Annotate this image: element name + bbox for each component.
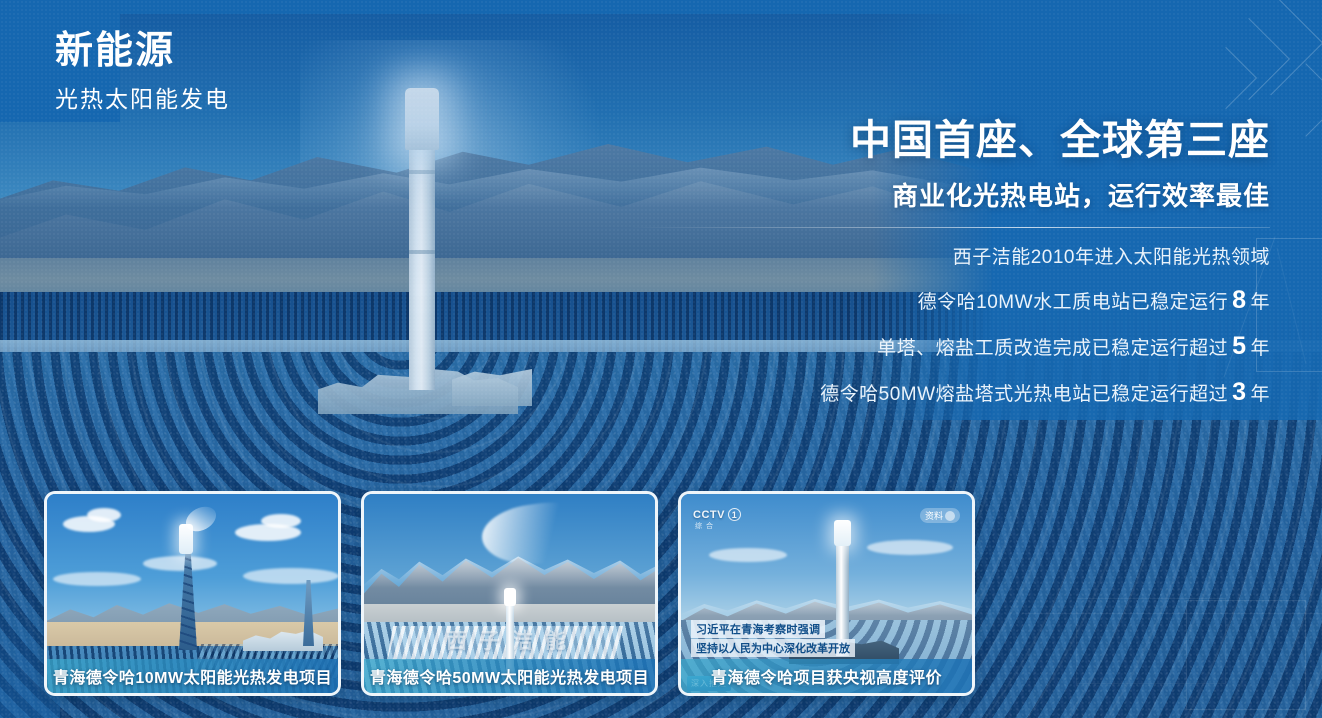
page-title: 新能源 光热太阳能发电 <box>55 30 230 114</box>
hero-bullet-item: 德令哈10MW水工质电站已稳定运行8年 <box>630 286 1270 315</box>
hero-bullet-number: 5 <box>1228 332 1250 360</box>
hero-bullet-number: 3 <box>1228 378 1250 406</box>
thumb1-cloud <box>53 572 141 586</box>
hero-bullet-prefix: 德令哈10MW水工质电站已稳定运行 <box>918 292 1228 313</box>
hero-bullet-item: 德令哈50MW熔盐塔式光热电站已稳定运行超过3年 <box>630 378 1270 407</box>
page-title-main: 新能源 <box>55 30 230 74</box>
hero-bullet-unit: 年 <box>1250 292 1270 313</box>
hero-bullet-number: 8 <box>1228 286 1250 314</box>
thumbnail-card-delingha-50mw[interactable]: 西子洁能 青海德令哈50MW太阳能光热发电项目 <box>361 491 658 696</box>
deco-hairline-bottom <box>1022 613 1322 614</box>
thumbnail-caption: 青海德令哈50MW太阳能光热发电项目 <box>364 659 655 693</box>
hero-bullet-text: 西子洁能2010年进入太阳能光热领域 <box>953 247 1270 268</box>
thumb1-cloud <box>87 508 121 522</box>
cctv-logo-text: CCTV <box>693 509 725 521</box>
deco-corner-box-bottom-right-2 <box>1076 598 1226 684</box>
project-thumbnail-gallery: 青海德令哈10MW太阳能光热发电项目 西子洁能 青海德令哈50MW太阳能光热发电… <box>44 491 975 696</box>
thumbnail-card-delingha-10mw[interactable]: 青海德令哈10MW太阳能光热发电项目 <box>44 491 341 696</box>
thumbnail-caption: 青海德令哈项目获央视高度评价 <box>681 659 972 693</box>
news-lower-third: 习近平在青海考察时强调 坚持以人民为中心深化改革开放 <box>691 620 942 657</box>
thumb3-tower-receiver <box>834 520 851 546</box>
hero-bullet-list: 西子洁能2010年进入太阳能光热领域 德令哈10MW水工质电站已稳定运行8年 单… <box>630 242 1270 407</box>
hero-bullet-item: 单塔、熔盐工质改造完成已稳定运行超过5年 <box>630 332 1270 361</box>
archive-badge-icon <box>945 511 955 521</box>
hero-text-block: 中国首座、全球第三座 商业化光热电站，运行效率最佳 西子洁能2010年进入太阳能… <box>630 118 1270 407</box>
hero-divider <box>630 227 1270 228</box>
hero-subheadline: 商业化光热电站，运行效率最佳 <box>630 176 1270 213</box>
hero-bullet-unit: 年 <box>1250 384 1270 405</box>
archive-badge: 资料 <box>920 508 960 523</box>
slide-canvas: 新能源 光热太阳能发电 中国首座、全球第三座 商业化光热电站，运行效率最佳 西子… <box>0 0 1322 718</box>
news-headline-line2: 坚持以人民为中心深化改革开放 <box>691 639 855 657</box>
cctv-logo-icon: CCTV 1 <box>693 508 741 521</box>
hero-headline: 中国首座、全球第三座 <box>630 118 1270 164</box>
page-title-sub: 光热太阳能发电 <box>55 80 230 114</box>
hero-bullet-unit: 年 <box>1250 338 1270 359</box>
hero-bullet-item: 西子洁能2010年进入太阳能光热领域 <box>630 242 1270 269</box>
thumb1-cloud <box>261 514 301 528</box>
cctv-channel-number: 1 <box>728 508 741 521</box>
thumb1-cloud <box>143 556 217 571</box>
archive-badge-label: 资料 <box>925 509 943 522</box>
news-headline-line1: 习近平在青海考察时强调 <box>691 620 825 638</box>
thumbnail-caption: 青海德令哈10MW太阳能光热发电项目 <box>47 659 338 693</box>
thumb1-cloud <box>243 568 338 584</box>
thumbnail-card-cctv-coverage[interactable]: CCTV 1 综合 资料 习近平在青海考察时强调 坚持以人民为中心深化改革开放 … <box>678 491 975 696</box>
hero-bullet-prefix: 德令哈50MW熔盐塔式光热电站已稳定运行超过 <box>820 384 1228 405</box>
thumb2-tower-receiver <box>504 588 516 606</box>
cctv-channel-name: 综合 <box>695 521 717 531</box>
thumb3-cloud <box>709 548 787 562</box>
thumb3-cloud <box>867 540 953 555</box>
hero-bullet-prefix: 单塔、熔盐工质改造完成已稳定运行超过 <box>877 338 1228 359</box>
